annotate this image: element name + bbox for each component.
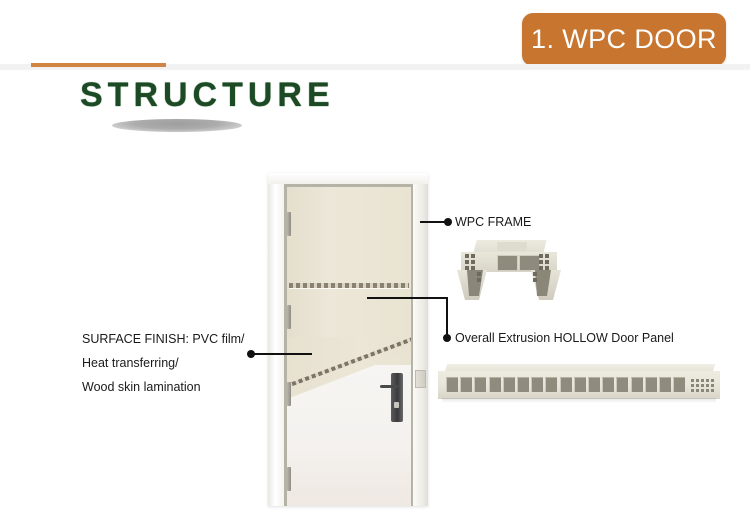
section-badge: 1. WPC DOOR: [522, 13, 726, 66]
frame-profile-perforation: [539, 266, 543, 270]
door-hinge: [287, 382, 291, 406]
wpc-frame-leader-dot: [444, 218, 452, 226]
frame-profile-perforation: [545, 266, 549, 270]
panel-end-perforation: [696, 379, 699, 382]
frame-profile-perforation: [539, 254, 543, 258]
hollow-panel-leader-horizontal: [367, 297, 448, 299]
panel-hollow-cell: [460, 377, 472, 392]
callout-surface-finish: SURFACE FINISH: PVC film/ Heat transferr…: [82, 327, 245, 399]
page-title: STRUCTURE: [80, 76, 335, 115]
hollow-door-panel-photo: [438, 364, 720, 406]
panel-hollow-cell: [503, 377, 515, 392]
panel-hollow-cell: [631, 377, 643, 392]
door-jamb-left: [268, 173, 284, 506]
door-illustration: [263, 170, 433, 508]
frame-profile-perforation: [539, 260, 543, 264]
section-badge-label: 1. WPC DOOR: [531, 24, 717, 55]
door-leaf: [287, 187, 411, 506]
panel-hollow-cell: [474, 377, 486, 392]
callout-surface-finish-line-1: SURFACE FINISH: PVC film/: [82, 327, 245, 351]
panel-end-perforation: [706, 379, 709, 382]
panel-end-perforation: [701, 384, 704, 387]
panel-end-perforation: [711, 379, 714, 382]
panel-hollow-cell: [588, 377, 600, 392]
panel-end-perforation: [696, 389, 699, 392]
panel-end-perforation: [706, 389, 709, 392]
title-ellipse-shadow: [112, 119, 242, 132]
header-divider-shadow: [0, 68, 750, 71]
panel-end-perforation: [696, 384, 699, 387]
panel-end-perforation: [691, 379, 694, 382]
panel-hollow-cell: [489, 377, 501, 392]
panel-hollow-cell: [531, 377, 543, 392]
frame-profile-perforation: [533, 278, 537, 282]
panel-end-perforation: [711, 384, 714, 387]
frame-profile-perforation: [471, 254, 475, 258]
panel-hollow-cell: [517, 377, 529, 392]
panel-hollow-cell: [616, 377, 628, 392]
door-hinge: [287, 467, 291, 491]
callout-surface-finish-line-2: Heat transferring/: [82, 351, 245, 375]
callout-wpc-frame-label: WPC FRAME: [455, 215, 531, 229]
callout-hollow-panel-label: Overall Extrusion HOLLOW Door Panel: [455, 331, 674, 345]
frame-profile-perforation: [471, 260, 475, 264]
panel-end-perforation: [701, 389, 704, 392]
panel-hollow-cell: [574, 377, 586, 392]
frame-profile-perforation: [545, 254, 549, 258]
panel-hollow-cell: [545, 377, 557, 392]
frame-profile-perforation: [471, 266, 475, 270]
door-keyhole: [394, 402, 399, 408]
hollow-panel-leader-vertical: [446, 297, 448, 337]
frame-profile-perforation: [477, 272, 481, 276]
frame-profile-cavity: [497, 255, 518, 271]
header-divider-accent: [31, 63, 166, 67]
door-horizontal-groove: [289, 283, 409, 288]
panel-drop-shadow: [442, 398, 716, 403]
panel-end-perforation: [711, 389, 714, 392]
wpc-frame-profile-photo: [455, 240, 563, 302]
callout-surface-finish-line-3: Wood skin lamination: [82, 375, 245, 399]
frame-profile-perforation: [465, 260, 469, 264]
panel-end-perforation: [701, 379, 704, 382]
frame-profile-perforation: [477, 278, 481, 282]
panel-hollow-cell: [645, 377, 657, 392]
frame-profile-cavity: [519, 255, 540, 271]
frame-profile-perforation: [533, 272, 537, 276]
door-strike-plate: [415, 370, 426, 388]
door-handle-lever: [380, 385, 398, 388]
frame-profile-perforation: [465, 254, 469, 258]
panel-end-perforation: [706, 384, 709, 387]
door-jamb-top: [268, 173, 428, 184]
slide-canvas: 1. WPC DOOR STRUCTURE: [0, 0, 750, 528]
door-hinge: [287, 305, 291, 329]
panel-hollow-cell: [560, 377, 572, 392]
panel-end-perforation: [691, 384, 694, 387]
panel-end-perforation: [691, 389, 694, 392]
frame-profile-perforation: [465, 266, 469, 270]
frame-profile-perforation: [545, 260, 549, 264]
frame-profile-top-ridge: [497, 242, 527, 251]
panel-hollow-cell: [673, 377, 685, 392]
hollow-panel-leader-dot: [443, 334, 451, 342]
panel-hollow-cell: [446, 377, 458, 392]
panel-hollow-cell: [602, 377, 614, 392]
panel-hollow-cell: [659, 377, 671, 392]
door-hinge: [287, 212, 291, 236]
door-lock-plate: [391, 373, 403, 422]
surface-finish-leader-line: [254, 353, 312, 355]
